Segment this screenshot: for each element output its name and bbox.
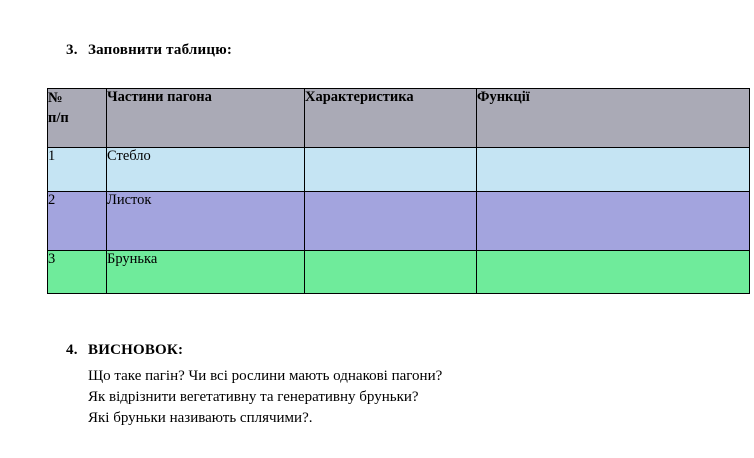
table-header-number-line2: п/п <box>48 109 106 129</box>
table-cell-function[interactable] <box>477 192 750 251</box>
table-header-cell-parts: Частини пагона <box>107 89 305 148</box>
conclusion-questions: Що таке пагін? Чи всі рослини мають одна… <box>88 366 442 429</box>
task-3-number: 3. <box>66 42 88 59</box>
task-4-number: 4. <box>66 342 88 359</box>
table-cell-number: 2 <box>48 192 107 251</box>
table-header-cell-functions: Функції <box>477 89 750 148</box>
task-4-title: ВИСНОВОК: <box>88 342 183 359</box>
table-header-cell-characteristic: Характеристика <box>305 89 477 148</box>
table-cell-part: Брунька <box>107 251 305 294</box>
table-cell-number: 3 <box>48 251 107 294</box>
table-row: 3 Брунька <box>48 251 750 294</box>
conclusion-question-2: Як відрізнити вегетативну та генеративну… <box>88 387 442 408</box>
table-row: 2 Листок <box>48 192 750 251</box>
task-3-title: Заповнити таблицю: <box>88 42 232 59</box>
shoot-parts-table-wrapper: № п/п Частини пагона Характеристика Функ… <box>47 88 745 294</box>
table-cell-characteristic[interactable] <box>305 251 477 294</box>
table-cell-function[interactable] <box>477 251 750 294</box>
shoot-parts-table: № п/п Частини пагона Характеристика Функ… <box>47 88 750 294</box>
task-3-heading: 3. Заповнити таблицю: <box>66 42 232 59</box>
table-cell-characteristic[interactable] <box>305 192 477 251</box>
table-header-cell-number: № п/п <box>48 89 107 148</box>
conclusion-question-3: Які бруньки називають сплячими?. <box>88 408 442 429</box>
table-header-row: № п/п Частини пагона Характеристика Функ… <box>48 89 750 148</box>
conclusion-question-1: Що таке пагін? Чи всі рослини мають одна… <box>88 366 442 387</box>
table-header-number-line1: № <box>48 89 106 109</box>
table-cell-part: Стебло <box>107 148 305 192</box>
table-cell-characteristic[interactable] <box>305 148 477 192</box>
table-cell-part: Листок <box>107 192 305 251</box>
table-cell-function[interactable] <box>477 148 750 192</box>
table-row: 1 Стебло <box>48 148 750 192</box>
task-4-heading: 4. ВИСНОВОК: <box>66 342 183 359</box>
table-cell-number: 1 <box>48 148 107 192</box>
